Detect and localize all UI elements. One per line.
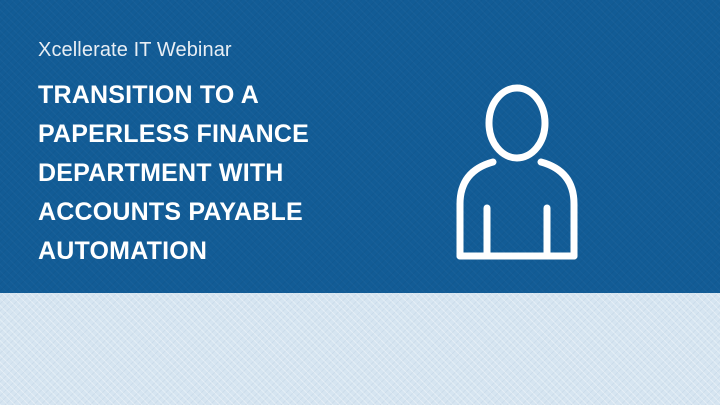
footer-section: Thu 14th Oct 2021 11.30AM - 12.30PM (AES…	[0, 293, 720, 405]
hero-section: Xcellerate IT Webinar TRANSITION TO A PA…	[0, 0, 720, 293]
webinar-promo-banner: Xcellerate IT Webinar TRANSITION TO A PA…	[0, 0, 720, 405]
headline-line-2: PAPERLESS FINANCE	[38, 115, 418, 154]
headline-line-1: TRANSITION TO A	[38, 76, 418, 115]
page-title: TRANSITION TO A PAPERLESS FINANCE DEPART…	[38, 76, 418, 271]
hero-text-block: Xcellerate IT Webinar TRANSITION TO A PA…	[38, 38, 418, 271]
headline-line-3: DEPARTMENT WITH	[38, 154, 418, 193]
headline-line-4: ACCOUNTS PAYABLE	[38, 193, 418, 232]
person-icon	[447, 84, 587, 260]
headline-line-5: AUTOMATION	[38, 232, 418, 271]
eyebrow-label: Xcellerate IT Webinar	[38, 38, 418, 62]
